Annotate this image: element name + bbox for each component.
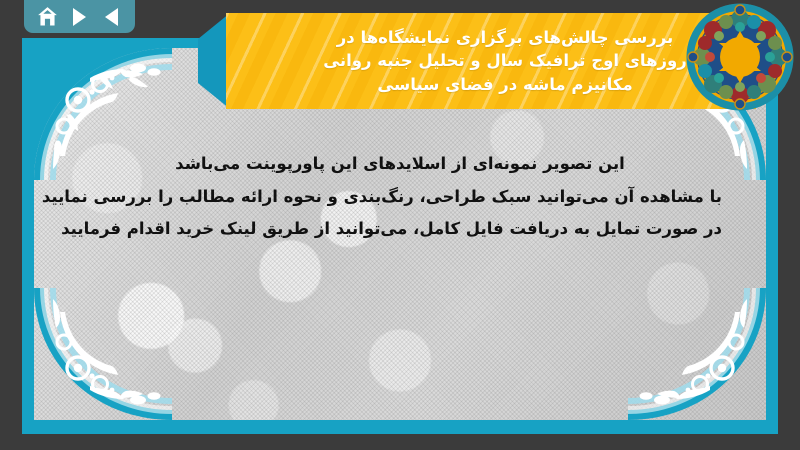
body-line-2: با مشاهده آن می‌توانید سبک طراحی، رنگ‌بن… <box>78 181 722 214</box>
persian-circular-medallion-icon <box>686 3 794 111</box>
triangle-right-icon <box>73 8 86 26</box>
back-button[interactable] <box>98 5 124 29</box>
triangle-left-icon <box>105 8 118 26</box>
navigation-bar <box>24 0 135 33</box>
arabesque-corner-bottom-left-icon <box>34 288 172 420</box>
home-button[interactable] <box>35 5 61 29</box>
ribbon-tail-icon <box>196 13 230 109</box>
body-line-1: این تصویر نمونه‌ای از اسلایدهای این پاور… <box>78 148 722 181</box>
title-ribbon: بررسی چالش‌های برگزاری نمایشگاه‌ها در رو… <box>196 13 756 109</box>
slide-title: بررسی چالش‌های برگزاری نمایشگاه‌ها در رو… <box>277 26 705 96</box>
arabesque-corner-bottom-right-icon <box>628 288 766 420</box>
slide-viewer: این تصویر نمونه‌ای از اسلایدهای این پاور… <box>0 0 800 450</box>
house-icon <box>36 6 59 27</box>
ribbon-banner: بررسی چالش‌های برگزاری نمایشگاه‌ها در رو… <box>226 13 756 109</box>
forward-button[interactable] <box>67 5 93 29</box>
slide-body-text: این تصویر نمونه‌ای از اسلایدهای این پاور… <box>78 148 722 246</box>
body-line-3: در صورت تمایل به دریافت فایل کامل، می‌تو… <box>78 213 722 246</box>
